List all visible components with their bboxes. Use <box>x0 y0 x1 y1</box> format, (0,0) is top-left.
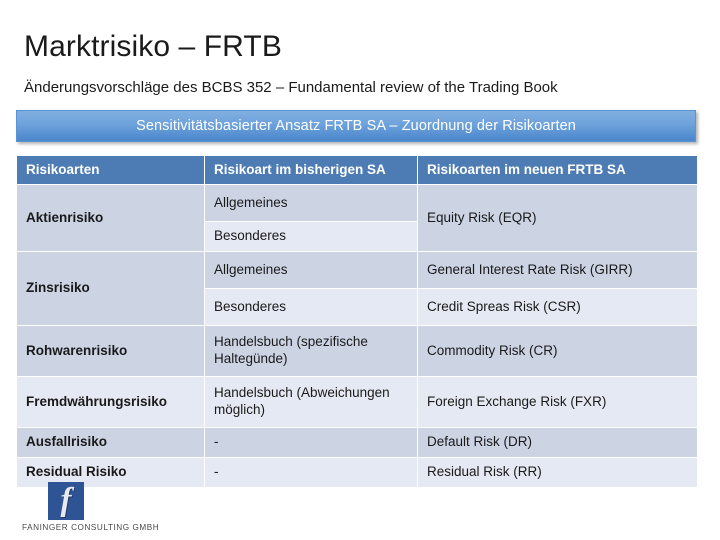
cell-old-sa-allgemeines-aktien: Allgemeines <box>205 185 418 222</box>
logo-mark-icon: f <box>48 482 84 520</box>
cell-category-rohwarenrisiko: Rohwarenrisiko <box>17 326 205 377</box>
page-subtitle: Änderungsvorschläge des BCBS 352 – Funda… <box>24 79 558 97</box>
table-row: Rohwarenrisiko Handelsbuch (spezifische … <box>17 326 698 377</box>
section-banner-label: Sensitivitätsbasierter Ansatz FRTB SA – … <box>136 118 576 134</box>
logo-caption: FANINGER CONSULTING GMBH <box>22 523 159 532</box>
cell-old-sa-besonderes-zins: Besonderes <box>205 289 418 326</box>
cell-old-sa-residual: - <box>205 458 418 488</box>
section-banner: Sensitivitätsbasierter Ansatz FRTB SA – … <box>16 110 696 142</box>
cell-category-aktienrisiko: Aktienrisiko <box>17 185 205 252</box>
cell-new-sa-equity-risk: Equity Risk (EQR) <box>418 185 698 252</box>
cell-new-sa-default-risk: Default Risk (DR) <box>418 428 698 458</box>
page-title: Marktrisiko – FRTB <box>24 30 282 63</box>
risk-mapping-table: Risikoarten Risikoart im bisherigen SA R… <box>16 155 698 488</box>
cell-new-sa-residual-risk: Residual Risk (RR) <box>418 458 698 488</box>
cell-new-sa-fxr: Foreign Exchange Risk (FXR) <box>418 377 698 428</box>
cell-category-ausfallrisiko: Ausfallrisiko <box>17 428 205 458</box>
column-header-bisheriger-sa: Risikoart im bisherigen SA <box>205 156 418 185</box>
cell-new-sa-csr: Credit Spreas Risk (CSR) <box>418 289 698 326</box>
company-logo: f FANINGER CONSULTING GMBH <box>22 482 202 534</box>
table-header-row: Risikoarten Risikoart im bisherigen SA R… <box>17 156 698 185</box>
table-row: Ausfallrisiko - Default Risk (DR) <box>17 428 698 458</box>
cell-old-sa-handelsbuch-spezifisch: Handelsbuch (spezifische Haltegünde) <box>205 326 418 377</box>
table-row: Fremdwährungsrisiko Handelsbuch (Abweich… <box>17 377 698 428</box>
cell-category-zinsrisiko: Zinsrisiko <box>17 252 205 326</box>
table-row: Aktienrisiko Allgemeines Equity Risk (EQ… <box>17 185 698 222</box>
cell-old-sa-handelsbuch-abweichungen: Handelsbuch (Abweichungen möglich) <box>205 377 418 428</box>
cell-old-sa-besonderes-aktien: Besonderes <box>205 222 418 252</box>
logo-letter-f: f <box>61 484 72 517</box>
cell-category-fremdwaehrungsrisiko: Fremdwährungsrisiko <box>17 377 205 428</box>
cell-new-sa-commodity-risk: Commodity Risk (CR) <box>418 326 698 377</box>
column-header-risikoarten: Risikoarten <box>17 156 205 185</box>
column-header-neuer-frtb-sa: Risikoarten im neuen FRTB SA <box>418 156 698 185</box>
slide-canvas: Marktrisiko – FRTB Änderungsvorschläge d… <box>0 0 720 540</box>
cell-old-sa-ausfall: - <box>205 428 418 458</box>
cell-new-sa-girr: General Interest Rate Risk (GIRR) <box>418 252 698 289</box>
table-row: Zinsrisiko Allgemeines General Interest … <box>17 252 698 289</box>
cell-old-sa-allgemeines-zins: Allgemeines <box>205 252 418 289</box>
